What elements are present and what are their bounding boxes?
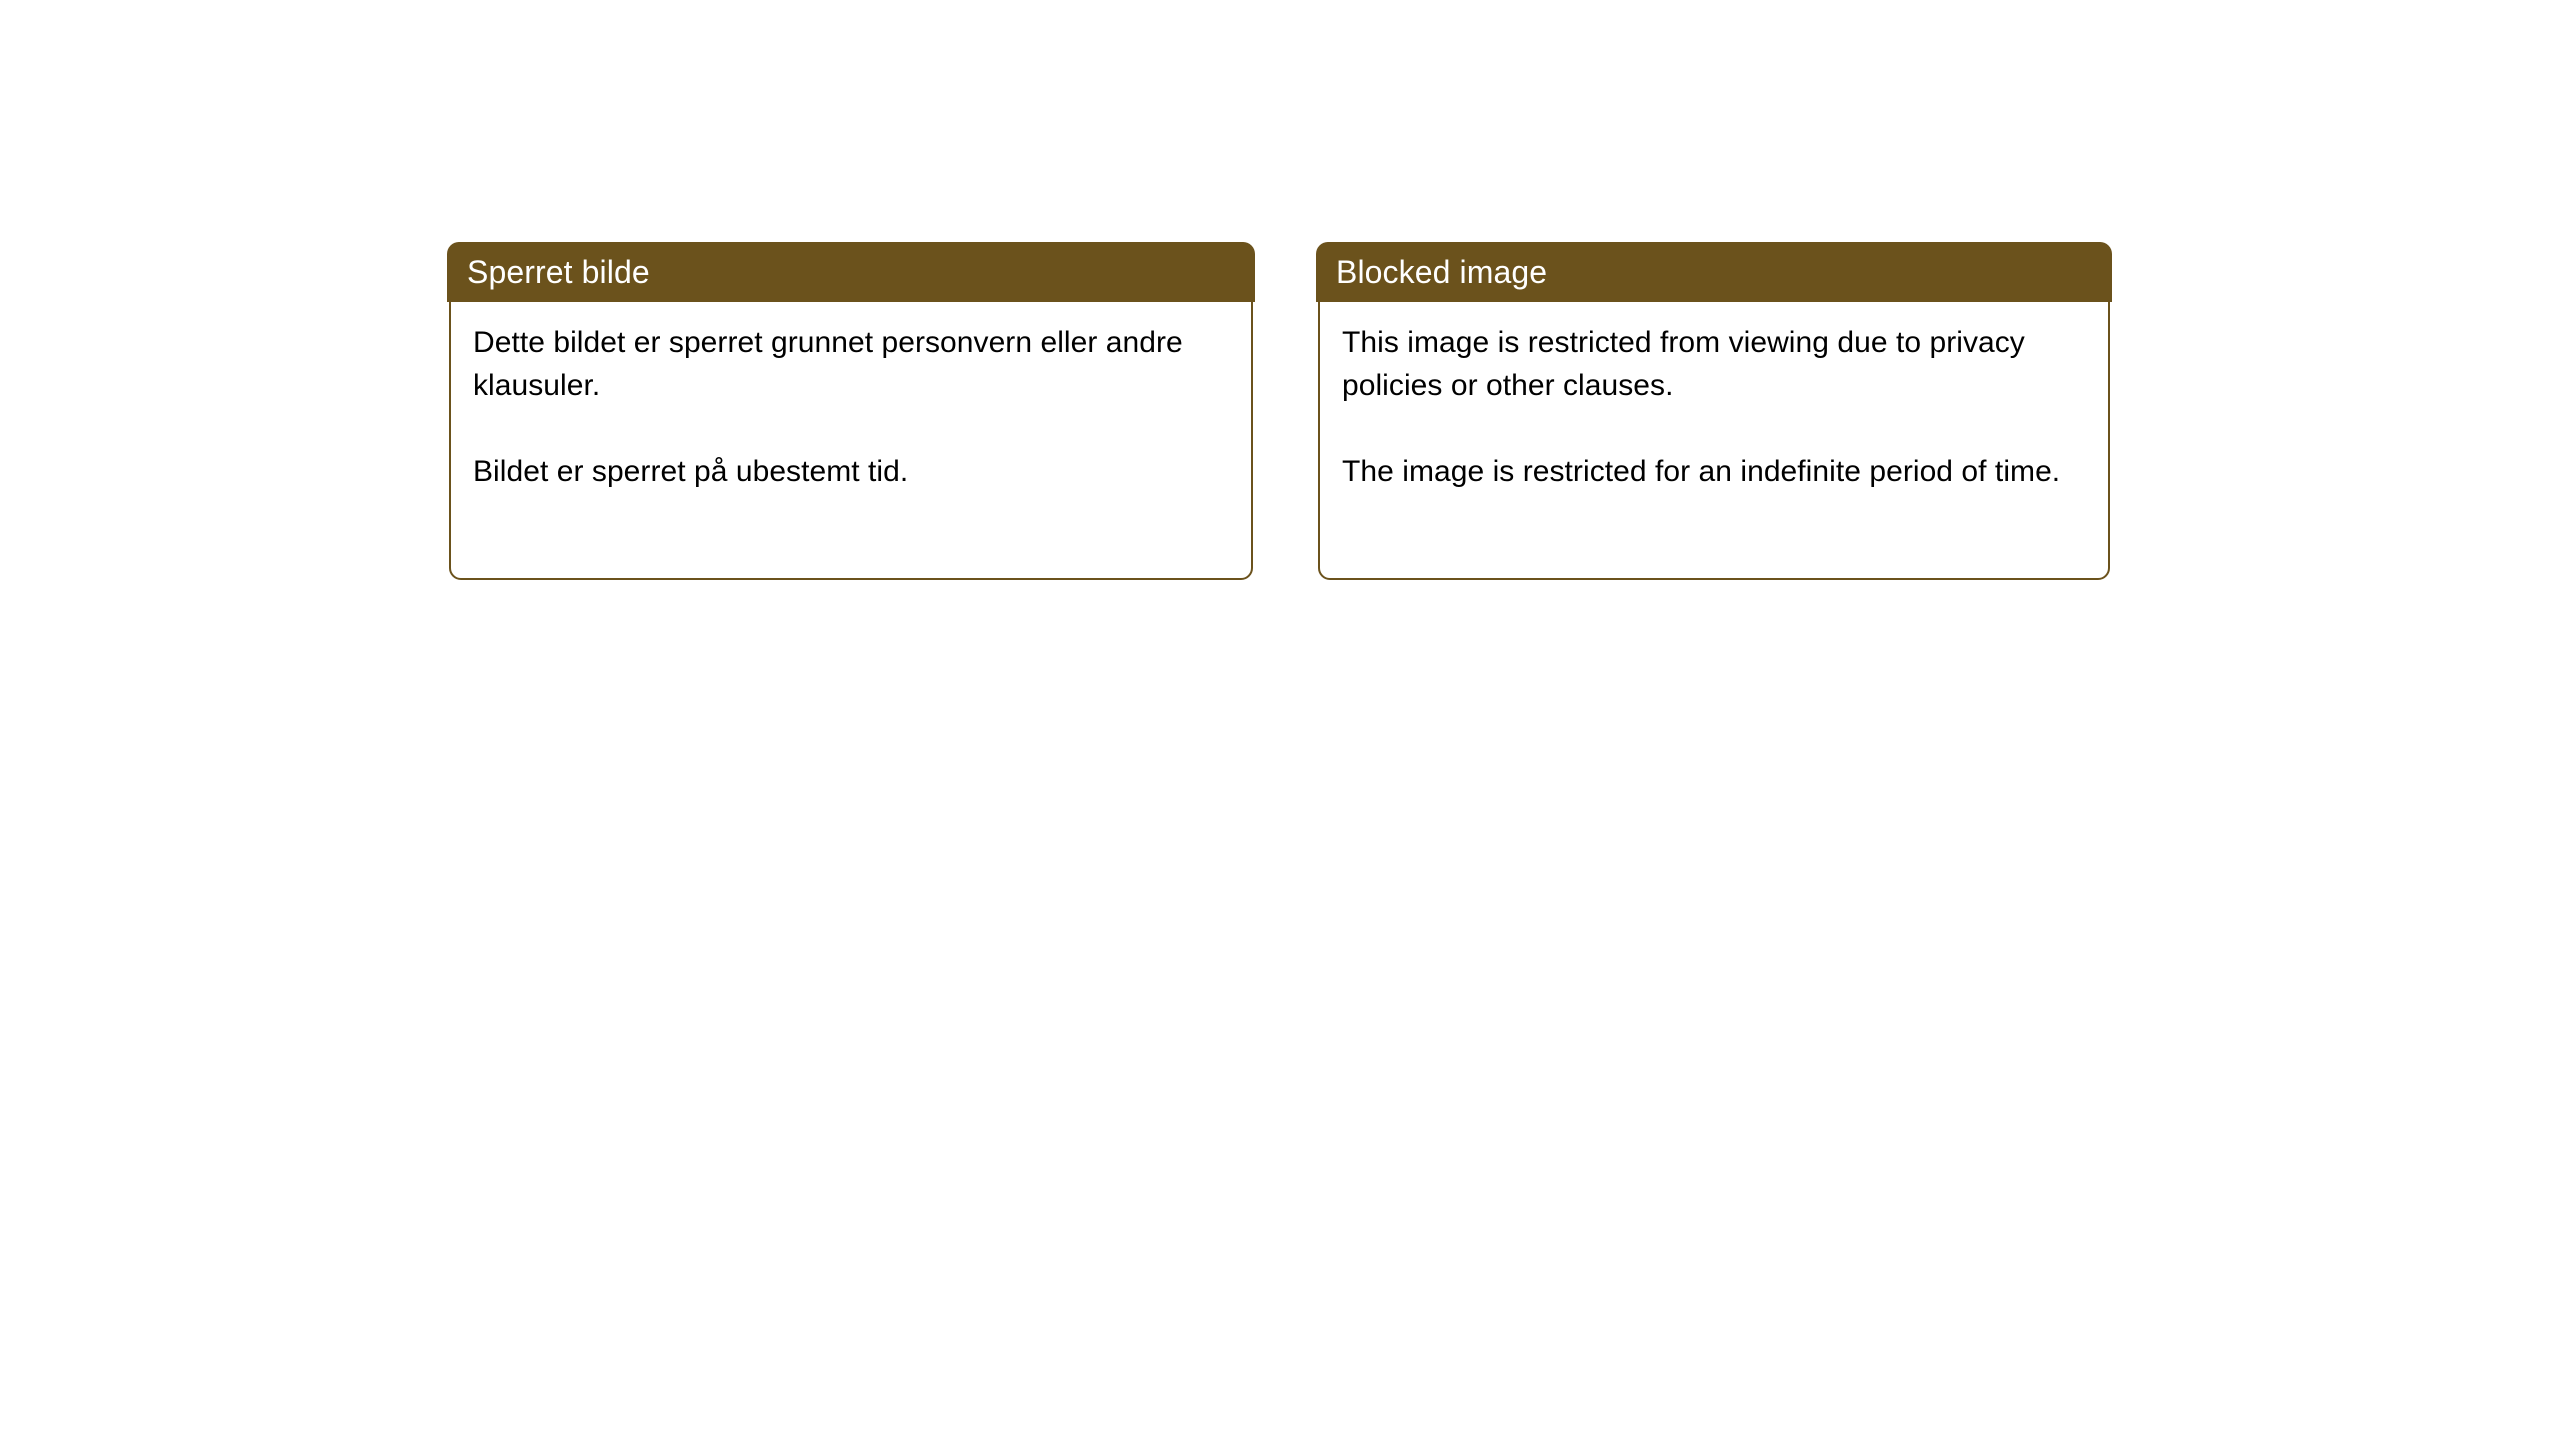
card-title: Sperret bilde (467, 256, 650, 288)
blocked-image-card-norwegian: Sperret bilde Dette bildet er sperret gr… (449, 242, 1253, 580)
notice-paragraph-primary: This image is restricted from viewing du… (1342, 321, 2086, 407)
notice-paragraph-secondary: The image is restricted for an indefinit… (1342, 450, 2086, 493)
blocked-image-card-english: Blocked image This image is restricted f… (1318, 242, 2110, 580)
card-header-bar: Sperret bilde (447, 242, 1255, 302)
card-content: Dette bildet er sperret grunnet personve… (449, 302, 1253, 580)
card-content: This image is restricted from viewing du… (1318, 302, 2110, 580)
page-canvas: Sperret bilde Dette bildet er sperret gr… (0, 0, 2560, 1440)
card-title: Blocked image (1336, 256, 1547, 288)
notice-paragraph-primary: Dette bildet er sperret grunnet personve… (473, 321, 1229, 407)
notice-paragraph-secondary: Bildet er sperret på ubestemt tid. (473, 450, 1229, 493)
card-header-bar: Blocked image (1316, 242, 2112, 302)
